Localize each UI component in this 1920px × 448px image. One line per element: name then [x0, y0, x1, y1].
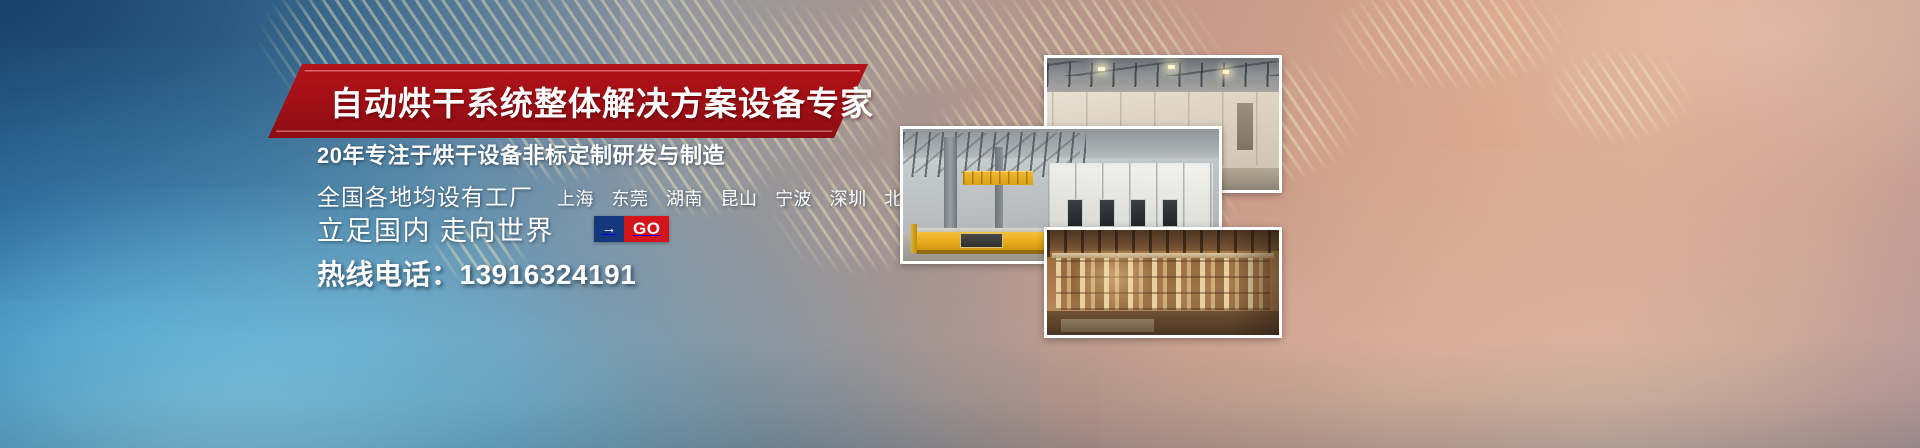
- photo-steel-column: [995, 147, 1003, 229]
- city-item: 上海: [557, 189, 594, 209]
- photo-oven-window: [1099, 199, 1115, 227]
- city-item: 宁波: [775, 189, 812, 209]
- factories-label: 全国各地均设有工厂: [317, 178, 533, 212]
- photo-oven-window: [1067, 199, 1083, 227]
- photo-ceiling-lamp: [1098, 67, 1105, 71]
- city-item: 东莞: [612, 189, 649, 209]
- hotline-text: 热线电话：13916324191: [317, 253, 636, 293]
- slogan-line: 立足国内 走向世界 → GO: [317, 209, 669, 248]
- banner-slogan: 立足国内 走向世界: [317, 209, 554, 248]
- photo-drying-racks-warm-light: [1044, 227, 1282, 338]
- photo-warm-light-glow: [1075, 249, 1154, 304]
- promo-banner: 自动烘干系统整体解决方案设备专家 20年专注于烘干设备非标定制研发与制造 全国各…: [0, 0, 1920, 448]
- photo-cart-control-box: [960, 233, 1003, 248]
- background-bottom-shade: [0, 338, 1920, 448]
- go-button[interactable]: → GO: [594, 216, 669, 242]
- city-item: 湖南: [666, 189, 703, 209]
- photo-chamber-door: [1237, 103, 1253, 151]
- city-item: 深圳: [830, 189, 867, 209]
- photo-right-shadow: [1228, 230, 1279, 335]
- photo-content: [1047, 230, 1279, 335]
- arrow-right-icon: →: [594, 216, 624, 242]
- city-item: 昆山: [721, 189, 758, 209]
- banner-headline: 自动烘干系统整体解决方案设备专家: [330, 77, 874, 125]
- photo-oven-window: [1130, 199, 1146, 227]
- photo-ceiling-lamp: [1223, 70, 1229, 74]
- photo-ceiling-lamp: [1168, 65, 1175, 69]
- title-ribbon: 自动烘干系统整体解决方案设备专家: [268, 64, 868, 138]
- go-button-label: GO: [624, 216, 669, 242]
- factories-line: 全国各地均设有工厂 上海 东莞 湖南 昆山 宁波 深圳 北京 天津: [317, 178, 988, 212]
- photo-yellow-post: [911, 224, 917, 253]
- photo-steel-column: [944, 137, 957, 232]
- photo-floor-plate: [1061, 319, 1154, 332]
- photo-crane-detail: [963, 171, 1033, 184]
- photo-roof-trusses-diagonal: [1047, 61, 1279, 77]
- banner-subtitle: 20年专注于烘干设备非标定制研发与制造: [317, 138, 725, 170]
- photo-oven-window: [1162, 199, 1178, 227]
